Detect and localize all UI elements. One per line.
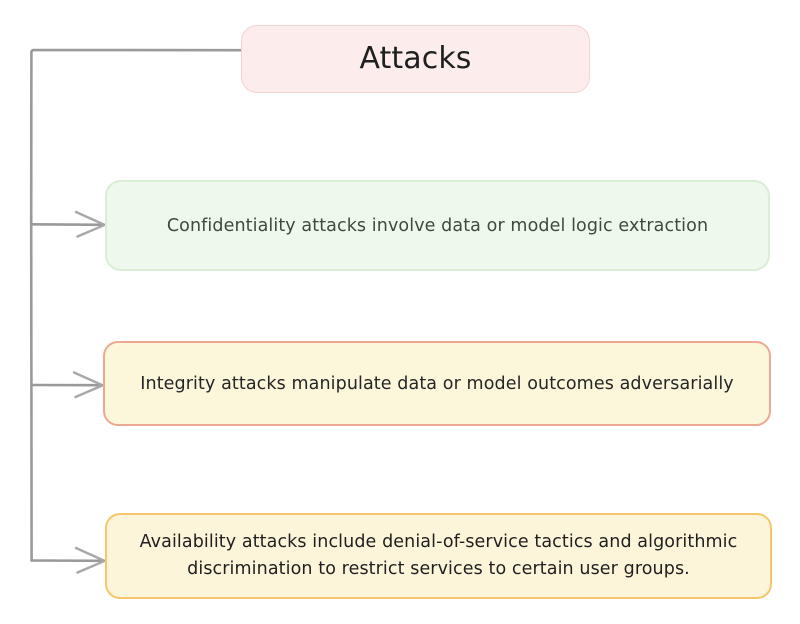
node-availability[interactable]: Availability attacks include denial-of-s… xyxy=(105,513,772,599)
diagram-canvas: Attacks Confidentiality attacks involve … xyxy=(0,0,800,624)
node-attacks-label: Attacks xyxy=(260,42,571,76)
node-confidentiality[interactable]: Confidentiality attacks involve data or … xyxy=(105,180,770,271)
arrowhead-confidentiality-upper xyxy=(76,212,104,225)
node-confidentiality-label: Confidentiality attacks involve data or … xyxy=(125,213,750,239)
arrowhead-availability-upper xyxy=(76,548,104,561)
node-integrity[interactable]: Integrity attacks manipulate data or mod… xyxy=(103,341,771,426)
node-attacks-title[interactable]: Attacks xyxy=(241,25,590,93)
arrowhead-integrity-upper xyxy=(74,373,102,386)
arrowhead-availability-lower xyxy=(78,561,105,572)
node-availability-label: Availability attacks include denial-of-s… xyxy=(125,529,752,583)
node-integrity-label: Integrity attacks manipulate data or mod… xyxy=(123,371,751,397)
connector-branch-confidentiality xyxy=(32,224,102,225)
arrowhead-integrity-lower xyxy=(76,386,103,397)
arrowhead-confidentiality-lower xyxy=(78,225,105,236)
connector-trunk xyxy=(31,50,240,561)
